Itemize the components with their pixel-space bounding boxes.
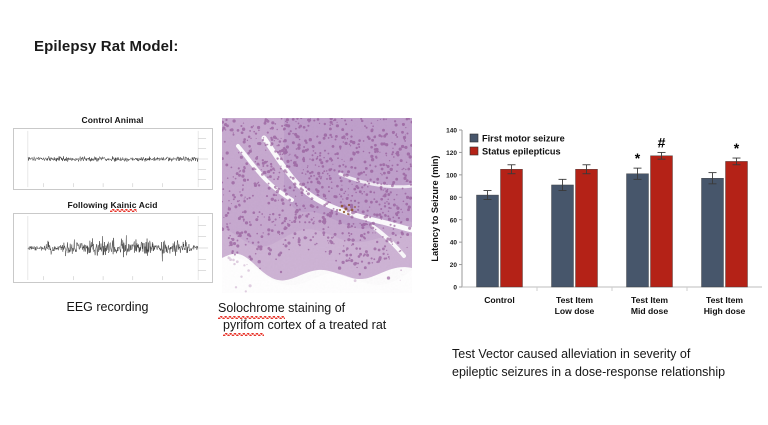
eeg-trace-kainic-plot [13,213,213,283]
eeg-trace-control-plot [13,128,213,190]
svg-text:0: 0 [453,285,457,292]
histology-caption-line1-rest: staining of [285,301,345,315]
chart-caption: Test Vector caused alleviation in severi… [452,345,764,381]
eeg-trace-kainic: Following Kainic Acid [10,200,215,283]
histology-micrograph [222,118,412,293]
eeg-kainic-misspelled-word: Kainic [110,200,136,210]
svg-text:Latency to Seizure (min): Latency to Seizure (min) [430,155,440,261]
svg-text:#: # [658,134,666,150]
histology-caption: Solochrome staining of pyrifom cortex of… [218,300,423,334]
svg-text:First motor seizure: First motor seizure [482,133,565,143]
chart-caption-line2: epileptic seizures in a dose-response re… [452,363,764,381]
eeg-trace-control: Control Animal [10,115,215,190]
eeg-trace-kainic-label: Following Kainic Acid [10,200,215,210]
svg-text:20: 20 [450,262,458,269]
svg-text:60: 60 [450,217,458,224]
eeg-kainic-suffix: Acid [137,200,158,210]
histology-misspelled-solochrome: Solochrome [218,300,285,317]
histology-panel [222,118,412,293]
svg-text:*: * [734,140,740,156]
page-title: Epilepsy Rat Model: [34,38,178,55]
eeg-kainic-prefix: Following [67,200,110,210]
svg-text:Control: Control [484,295,515,305]
histology-caption-line1: Solochrome staining of [218,300,423,317]
chart-caption-line1: Test Vector caused alleviation in severi… [452,345,764,363]
svg-text:Test Item: Test Item [631,295,668,305]
eeg-caption: EEG recording [0,300,215,314]
svg-text:Test Item: Test Item [556,295,593,305]
svg-text:100: 100 [446,172,457,179]
slide-canvas: Epilepsy Rat Model: Control Animal [0,0,768,425]
eeg-trace-control-label: Control Animal [10,115,215,125]
latency-bar-chart: 020406080100120140Latency to Seizure (mi… [428,124,768,339]
svg-text:High dose: High dose [704,306,746,316]
svg-text:140: 140 [446,128,457,135]
svg-text:Low dose: Low dose [555,306,595,316]
eeg-recording-panel: Control Animal [10,115,215,293]
histology-caption-line2-rest: cortex of a treated rat [264,318,386,332]
svg-text:40: 40 [450,240,458,247]
histology-caption-line2: pyrifom cortex of a treated rat [218,317,423,334]
histology-misspelled-pyrifom: pyrifom [223,317,264,334]
svg-text:80: 80 [450,195,458,202]
svg-text:Status epilepticus: Status epilepticus [482,146,561,156]
svg-text:120: 120 [446,150,457,157]
svg-text:Mid dose: Mid dose [631,306,668,316]
svg-text:Test Item: Test Item [706,295,743,305]
svg-text:*: * [635,150,641,166]
